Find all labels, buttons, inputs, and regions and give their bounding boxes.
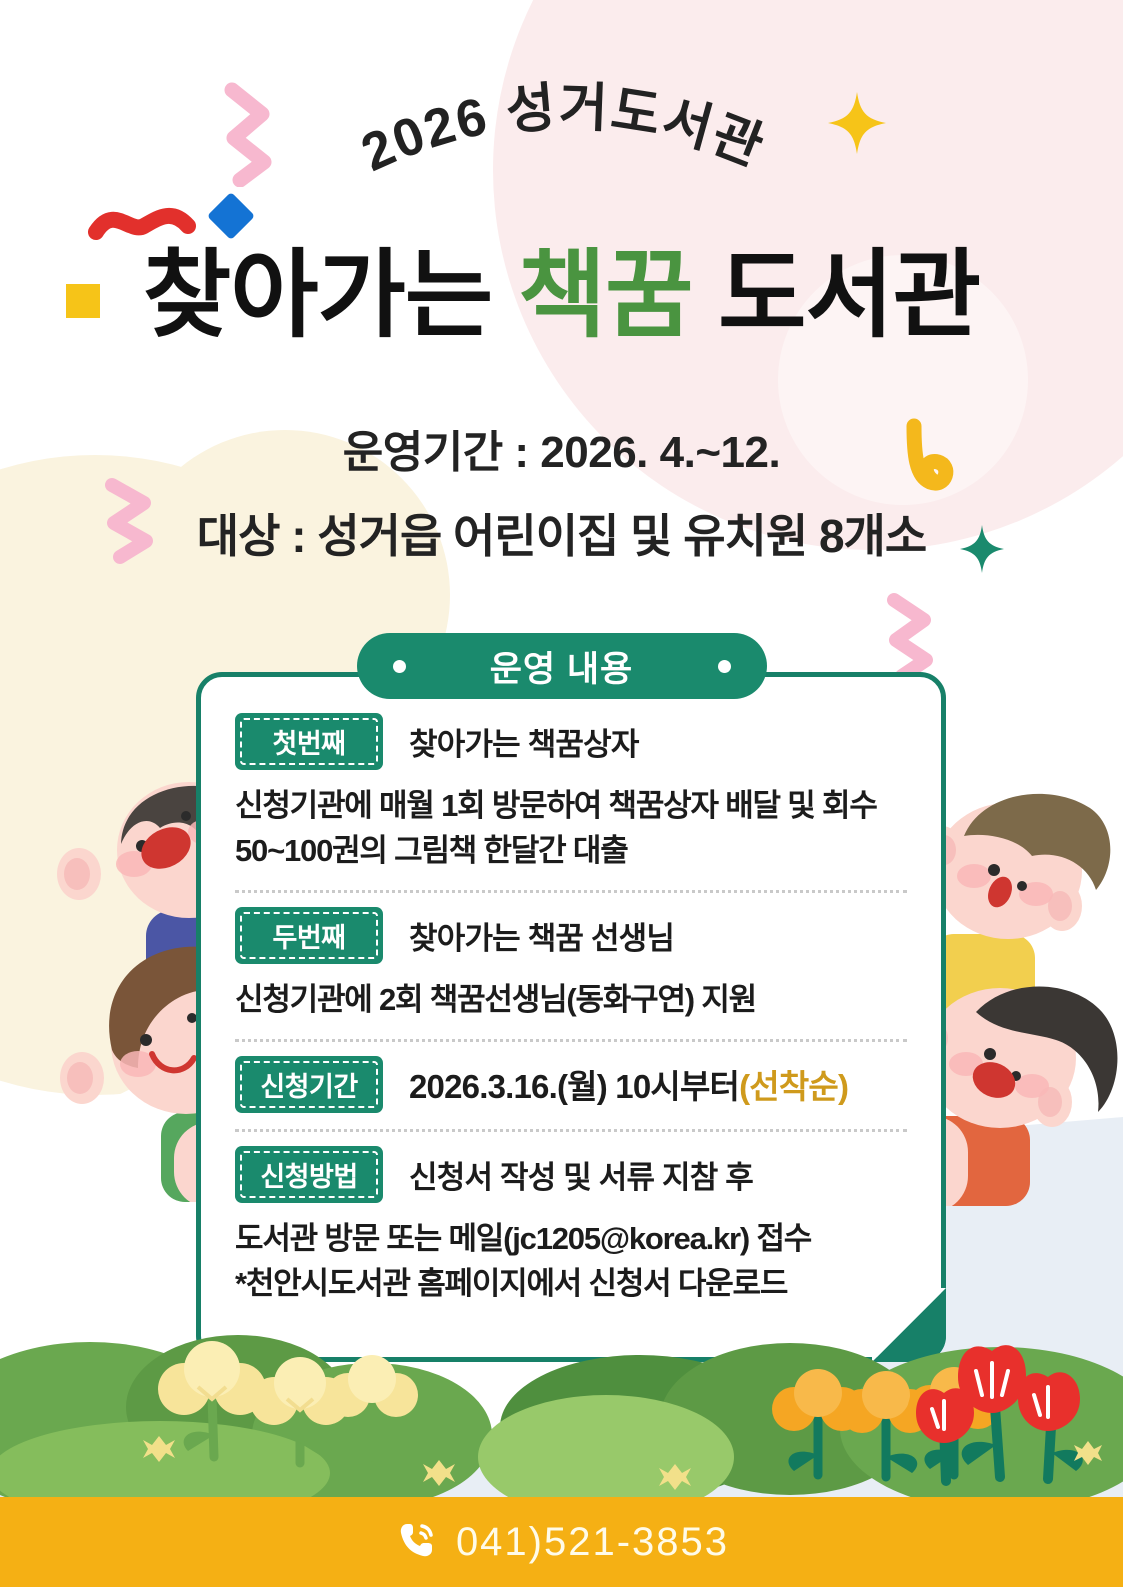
badge-first-label: 첫번째 <box>272 729 345 759</box>
garden-illustration <box>0 1267 1123 1497</box>
separator-1 <box>235 890 907 893</box>
card-header-label: 운영 내용 <box>490 641 634 692</box>
badge-second-label: 두번째 <box>272 923 345 953</box>
title-part-2: 도서관 <box>718 242 980 349</box>
section-first-detail-2: 50~100권의 그림책 한달간 대출 <box>235 829 907 874</box>
period-date: 2026.3.16.(월) 10시부터 <box>409 1068 739 1105</box>
separator-3 <box>235 1129 907 1132</box>
section-period-header: 신청기간 2026.3.16.(월) 10시부터(선착순) <box>235 1056 907 1113</box>
section-method-detail-1: 도서관 방문 또는 메일(jc1205@korea.kr) 접수 <box>235 1217 907 1262</box>
section-period-title: 2026.3.16.(월) 10시부터(선착순) <box>409 1060 848 1108</box>
badge-period-label: 신청기간 <box>260 1072 357 1102</box>
title-part-1: 찾아가는 <box>143 242 492 349</box>
section-second-title: 찾아가는 책꿈 선생님 <box>409 913 674 958</box>
section-second: 두번째 찾아가는 책꿈 선생님 신청기관에 2회 책꿈선생님(동화구연) 지원 <box>235 907 907 1023</box>
pink-zigzag-right-icon <box>880 592 942 684</box>
page-title: 찾아가는 책꿈 도서관 <box>0 243 1123 349</box>
pill-dot-right-icon <box>718 660 731 673</box>
badge-method: 신청방법 <box>235 1146 383 1203</box>
card-header-pill: 운영 내용 <box>357 633 767 699</box>
arc-title: 2026 성거도서관 <box>0 72 1123 202</box>
boy-brown-hair <box>922 794 1110 1014</box>
pill-dot-left-icon <box>393 660 406 673</box>
section-second-detail-1: 신청기관에 2회 책꿈선생님(동화구연) 지원 <box>235 978 907 1023</box>
red-wave-icon <box>88 196 198 246</box>
phone-icon <box>394 1518 438 1567</box>
subtitle-block: 운영기간 : 2026. 4.~12. 대상 : 성거읍 어린이집 및 유치원 … <box>0 416 1123 566</box>
section-first: 첫번째 찾아가는 책꿈상자 신청기관에 매월 1회 방문하여 책꿈상자 배달 및… <box>235 713 907 874</box>
badge-first: 첫번째 <box>235 713 383 770</box>
card-body: 첫번째 찾아가는 책꿈상자 신청기관에 매월 1회 방문하여 책꿈상자 배달 및… <box>201 677 941 1357</box>
period-note: (선착순) <box>739 1068 848 1105</box>
badge-method-label: 신청방법 <box>260 1162 357 1192</box>
section-method-title: 신청서 작성 및 서류 지참 후 <box>409 1152 753 1197</box>
section-period: 신청기간 2026.3.16.(월) 10시부터(선착순) <box>235 1056 907 1113</box>
section-first-header: 첫번째 찾아가는 책꿈상자 <box>235 713 907 770</box>
operating-period: 운영기간 : 2026. 4.~12. <box>0 416 1123 480</box>
badge-period: 신청기간 <box>235 1056 383 1113</box>
section-first-title: 찾아가는 책꿈상자 <box>409 719 639 764</box>
arc-title-text: 2026 성거도서관 <box>353 78 773 183</box>
footer-contact-bar: 041)521-3853 <box>0 1497 1123 1587</box>
separator-2 <box>235 1039 907 1042</box>
phone-number: 041)521-3853 <box>456 1520 729 1565</box>
section-method-header: 신청방법 신청서 작성 및 서류 지참 후 <box>235 1146 907 1203</box>
badge-second: 두번째 <box>235 907 383 964</box>
title-accent: 책꿈 <box>518 242 693 349</box>
section-first-detail-1: 신청기관에 매월 1회 방문하여 책꿈상자 배달 및 회수 <box>235 784 907 829</box>
svg-text:2026 성거도서관: 2026 성거도서관 <box>353 78 773 183</box>
section-second-header: 두번째 찾아가는 책꿈 선생님 <box>235 907 907 964</box>
target-audience: 대상 : 성거읍 어린이집 및 유치원 8개소 <box>0 500 1123 566</box>
poster-root: 2026 성거도서관 찾아가는 책꿈 도서관 운영기간 : 2026. 4.~1… <box>0 0 1123 1587</box>
content-card: 첫번째 찾아가는 책꿈상자 신청기관에 매월 1회 방문하여 책꿈상자 배달 및… <box>196 672 946 1362</box>
